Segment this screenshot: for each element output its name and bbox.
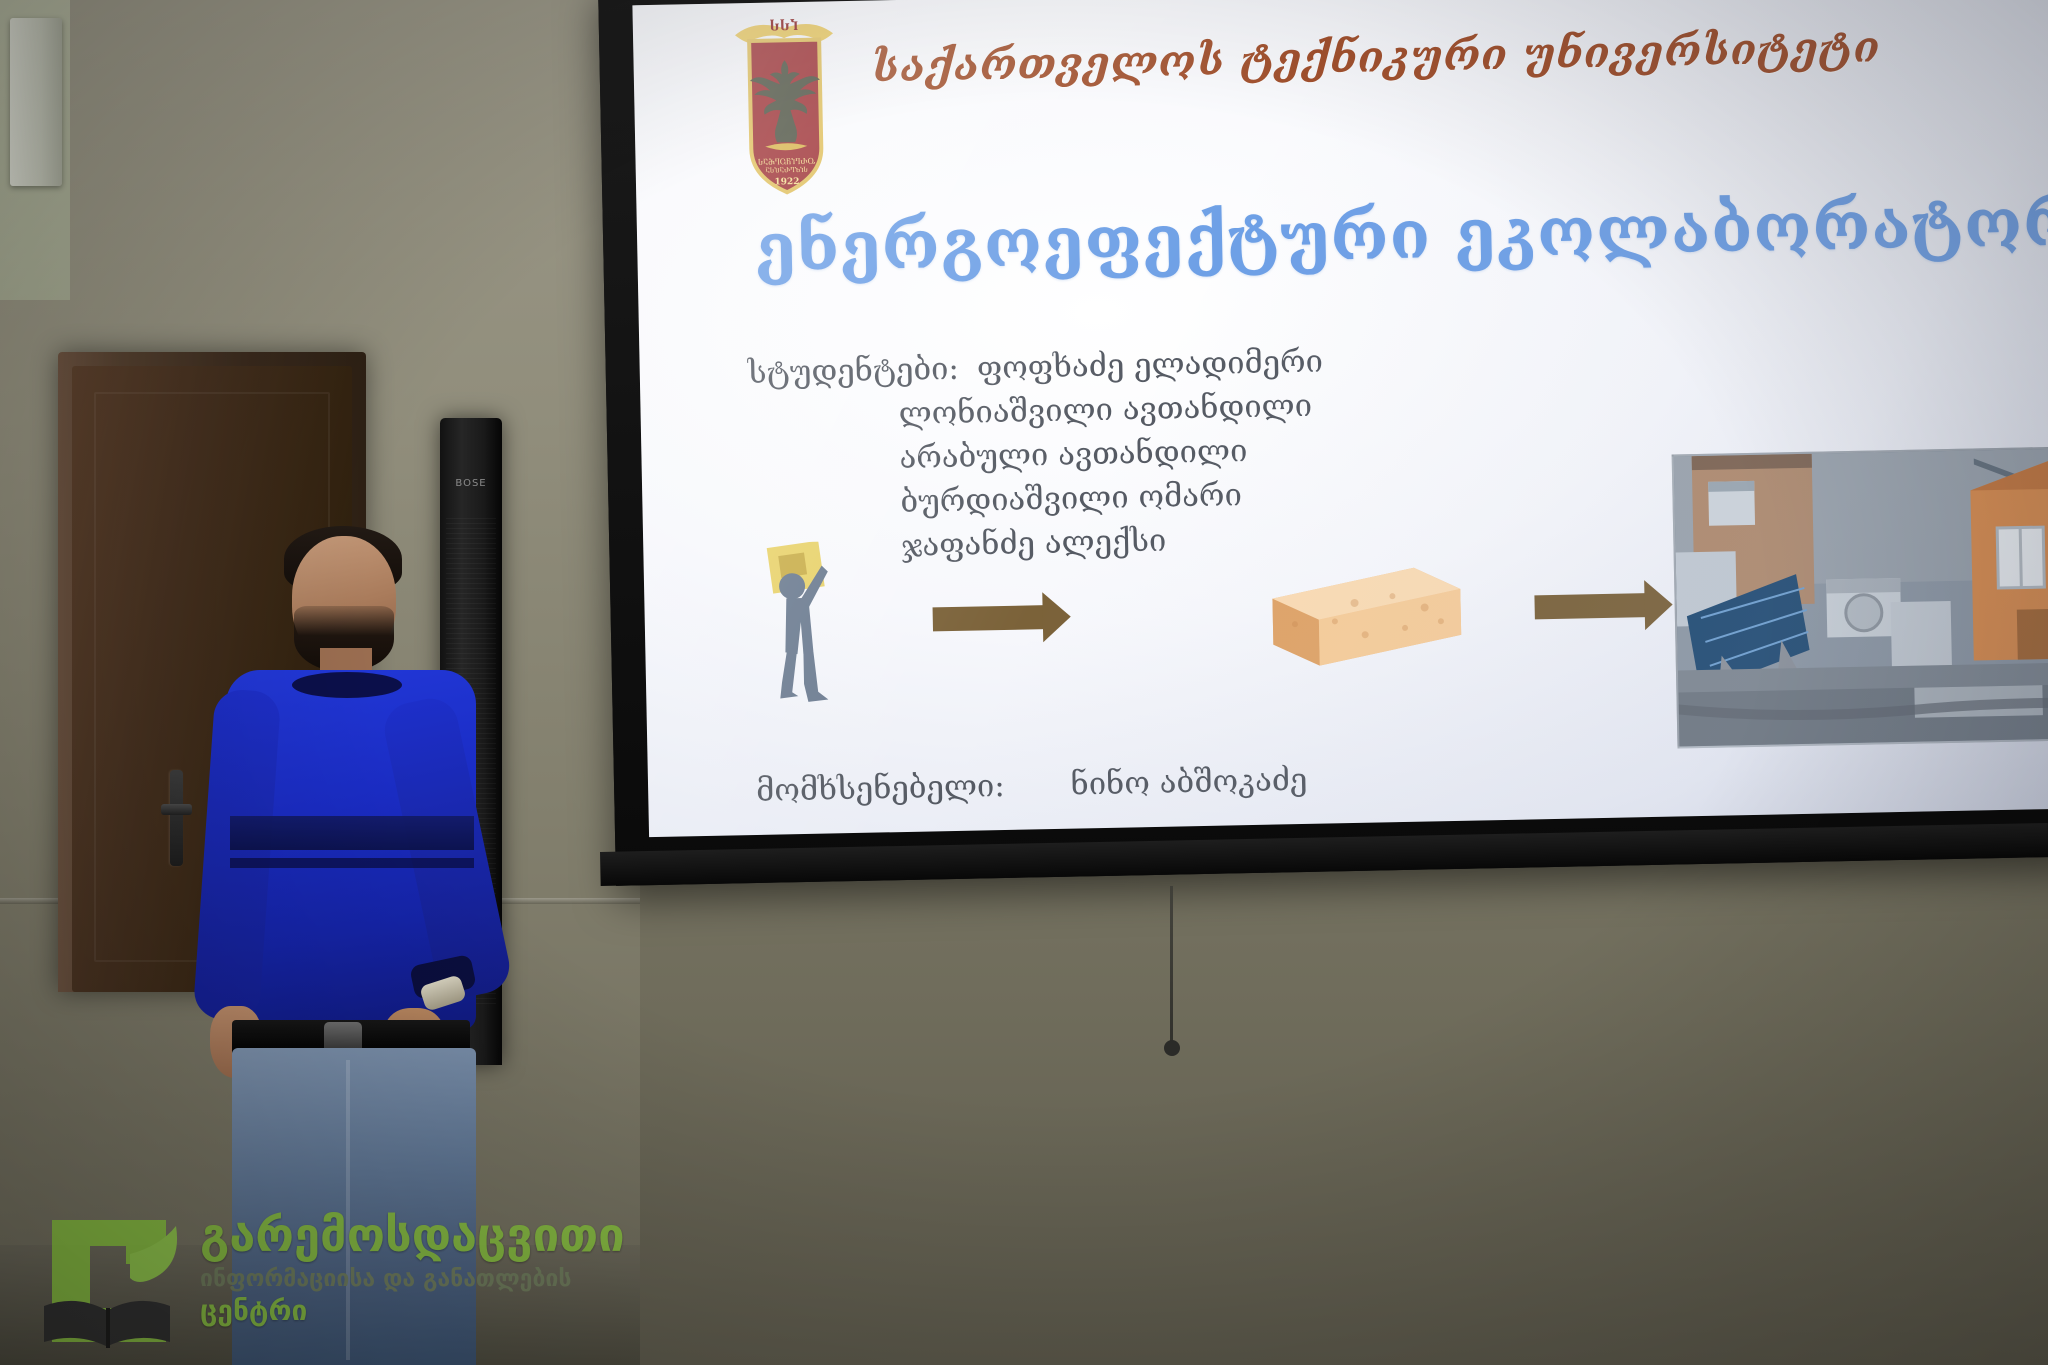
solar-house-photo	[1672, 444, 2048, 748]
presenter-sweater-stripe	[230, 816, 474, 850]
insulation-brick-icon	[1264, 561, 1466, 673]
presenter-label: მომხსენებელი:	[756, 768, 1005, 809]
watermark-line-2: ინფორმაციისა და განათლების	[200, 1265, 640, 1294]
screen-pull-knob	[1164, 1040, 1180, 1056]
projection-screen: ႱႱႨ ႱႠႫႤႺႬႨႤႰႭ ႠႱႮႠႰႤႦႨႱ 1922 საქართველო…	[598, 0, 2048, 886]
presenter-name: ნინო აბშოკაძე	[1070, 762, 1308, 803]
presentation-slide: ႱႱႨ ႱႠႫႤႺႬႨႤႰႭ ႠႱႮႠႰႤႦႨႱ 1922 საქართველო…	[632, 0, 2048, 837]
svg-text:ႱႠႫႤႺႬႨႤႰႭ: ႱႠႫႤႺႬႨႤႰႭ	[758, 157, 816, 167]
door-handle	[170, 770, 183, 866]
slide-title: ენერგოეფექტური ეკოლაბორატორია	[755, 180, 2048, 286]
speaker-brand-label: BOSE	[455, 478, 486, 489]
svg-text:1922: 1922	[774, 177, 799, 188]
watermark-line-3: ცენტრი	[200, 1296, 640, 1327]
presenter-collar	[292, 672, 402, 698]
presenter-sweater-stripe	[230, 858, 474, 868]
svg-text:ႱႱႨ: ႱႱႨ	[769, 18, 798, 35]
photo-scene: BOSE ႱႱႨ	[0, 0, 2048, 1365]
students-label: სტუდენტები:	[747, 347, 959, 395]
watermark-logo: გარემოსდაცვითი ინფორმაციისა და განათლები…	[10, 1198, 650, 1358]
svg-text:ႠႱႮႠႰႤႦႨႱ: ႠႱႮႠႰႤႦႨႱ	[765, 167, 808, 175]
student-name: ფოფხაძე ელადიმერი	[976, 340, 1323, 391]
right-arrow-icon	[933, 605, 1045, 631]
eiec-leaf-book-logo	[34, 1202, 184, 1352]
screen-pull-cord	[1170, 886, 1173, 1046]
watermark-text: გარემოსდაცვითი ინფორმაციისა და განათლები…	[200, 1212, 640, 1327]
university-header: საქართველოს ტექნიკური უნივერსიტეტი	[871, 24, 1772, 91]
process-diagram	[742, 457, 2048, 774]
gtu-emblem-icon: ႱႱႨ ႱႠႫႤႺႬႨႤႰႭ ႠႱႮႠႰႤႦႨႱ 1922	[724, 7, 846, 199]
ceiling-air-vent	[10, 18, 62, 186]
right-arrow-icon	[1534, 593, 1646, 619]
worker-silhouette-icon	[755, 541, 849, 723]
watermark-line-1: გარემოსდაცვითი	[200, 1212, 640, 1259]
screen-surface: ႱႱႨ ႱႠႫႤႺႬႨႤႰႭ ႠႱႮႠႰႤႦႨႱ 1922 საქართველო…	[632, 0, 2048, 837]
